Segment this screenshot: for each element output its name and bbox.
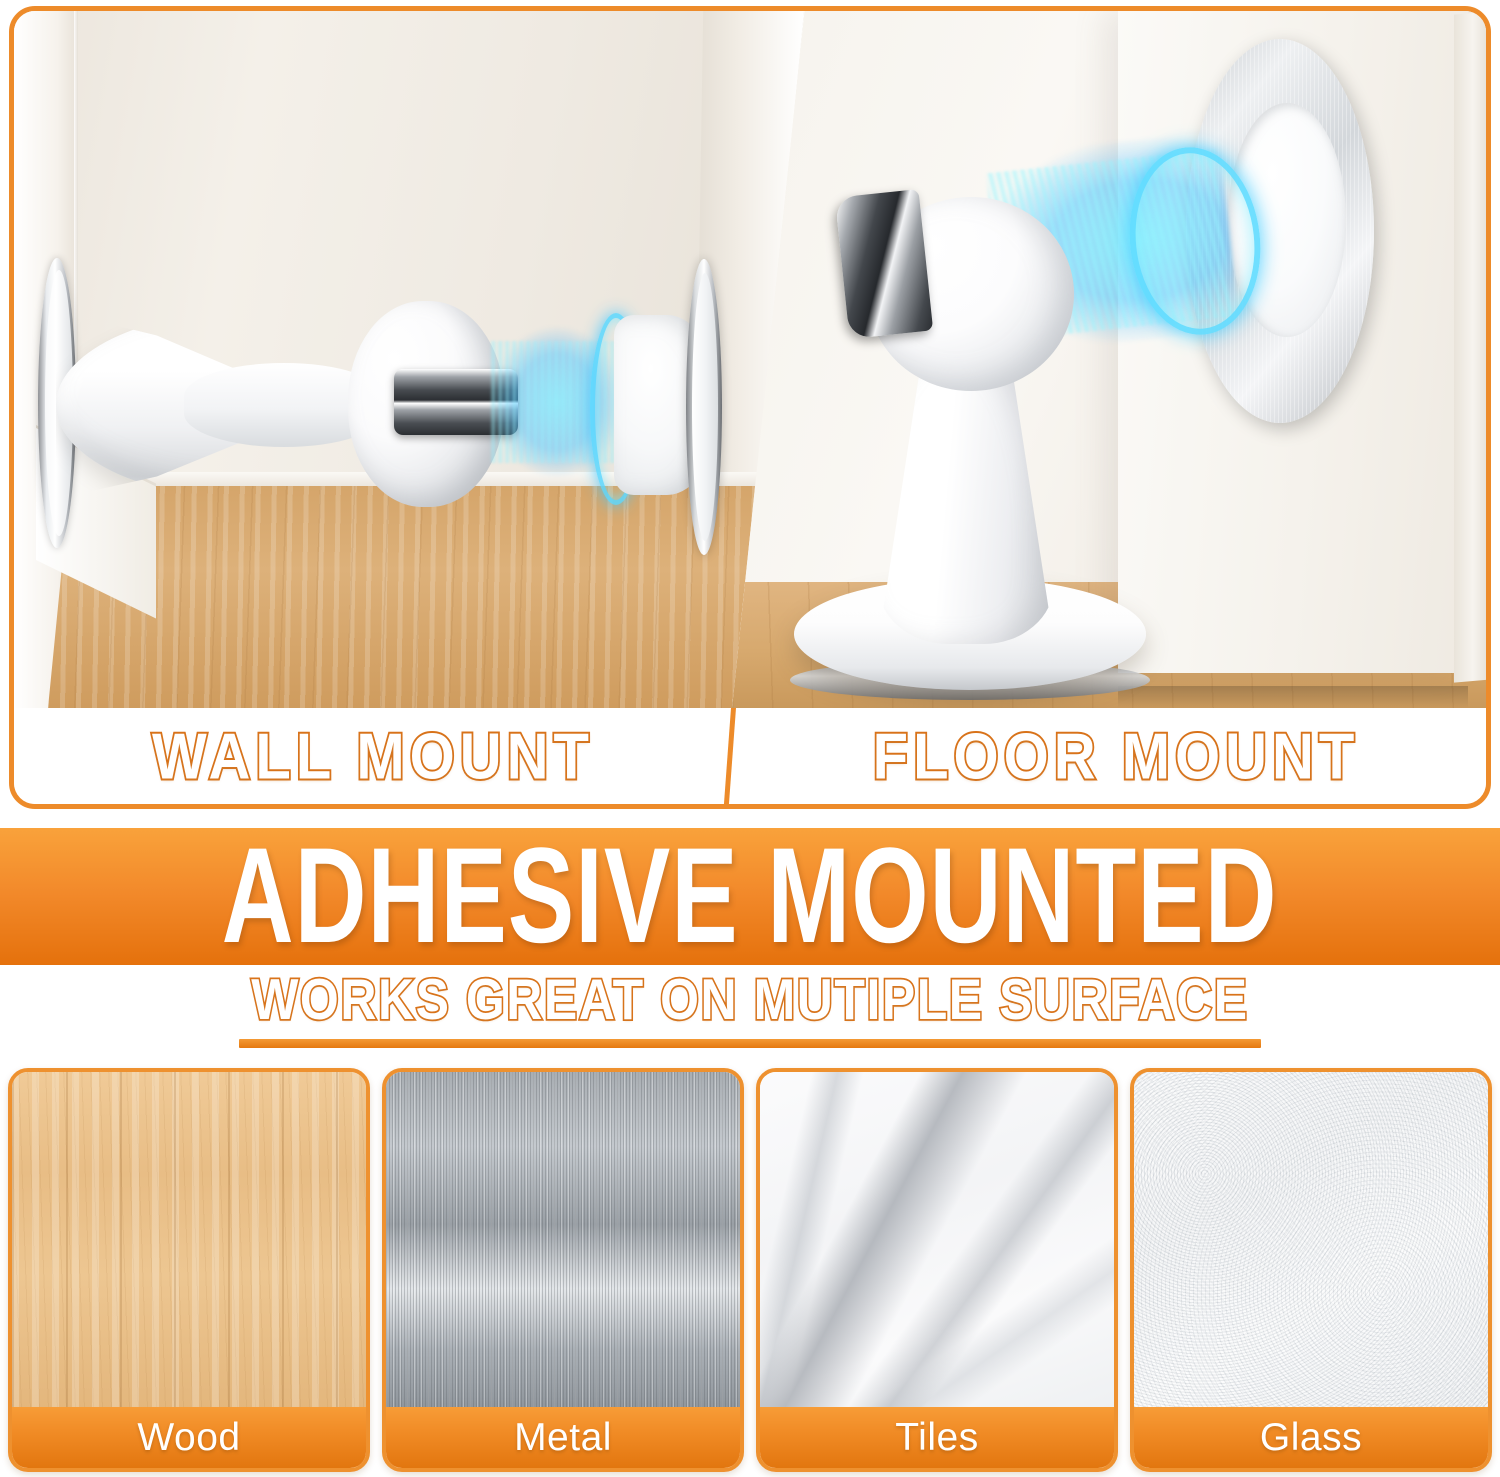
surface-swatch-wood: Wood [8,1068,370,1472]
product-photo-row [14,11,1486,708]
metal-texture-image [386,1072,740,1411]
surface-swatch-tiles: Tiles [756,1068,1118,1472]
surface-swatch-row: Wood Metal Tiles Glass [0,1068,1500,1477]
surface-label-metal-text: Metal [514,1416,612,1460]
subtitle-underline [239,1039,1261,1048]
surface-swatch-glass: Glass [1130,1068,1492,1472]
glass-texture-image [1134,1072,1488,1411]
door-shadow [1118,686,1468,708]
door-edge [1454,11,1486,683]
caption-floor-mount: FLOOR MOUNT [736,708,1491,804]
panel-caption-row: WALL MOUNT FLOOR MOUNT [14,708,1486,804]
surface-label-glass-text: Glass [1260,1416,1362,1460]
surface-label-glass: Glass [1134,1407,1488,1468]
caption-wall-mount: WALL MOUNT [14,708,732,804]
caption-wall-mount-label: WALL MOUNT [152,718,594,793]
surface-label-wood-text: Wood [137,1416,240,1460]
tiles-texture-image [760,1072,1114,1411]
surface-label-tiles-text: Tiles [895,1416,978,1460]
adhesive-disc-icon [686,259,722,555]
wood-texture-image [12,1072,366,1411]
surface-label-metal: Metal [386,1407,740,1468]
caption-floor-mount-label: FLOOR MOUNT [873,718,1360,793]
subtitle-label: WORKS GREAT ON MUTIPLE SURFACE [251,967,1248,1033]
adhesive-mounted-banner: ADHESIVE MOUNTED [0,828,1500,965]
surface-label-wood: Wood [12,1407,366,1468]
surface-label-tiles: Tiles [760,1407,1114,1468]
magnet-stack-icon [835,189,933,339]
subtitle-block: WORKS GREAT ON MUTIPLE SURFACE [0,972,1500,1058]
banner-headline: ADHESIVE MOUNTED [222,828,1278,965]
floor-mount-photo [732,11,1486,708]
mounting-modes-frame: WALL MOUNT FLOOR MOUNT [9,6,1491,809]
surface-swatch-metal: Metal [382,1068,744,1472]
wall-mount-photo [14,11,804,708]
